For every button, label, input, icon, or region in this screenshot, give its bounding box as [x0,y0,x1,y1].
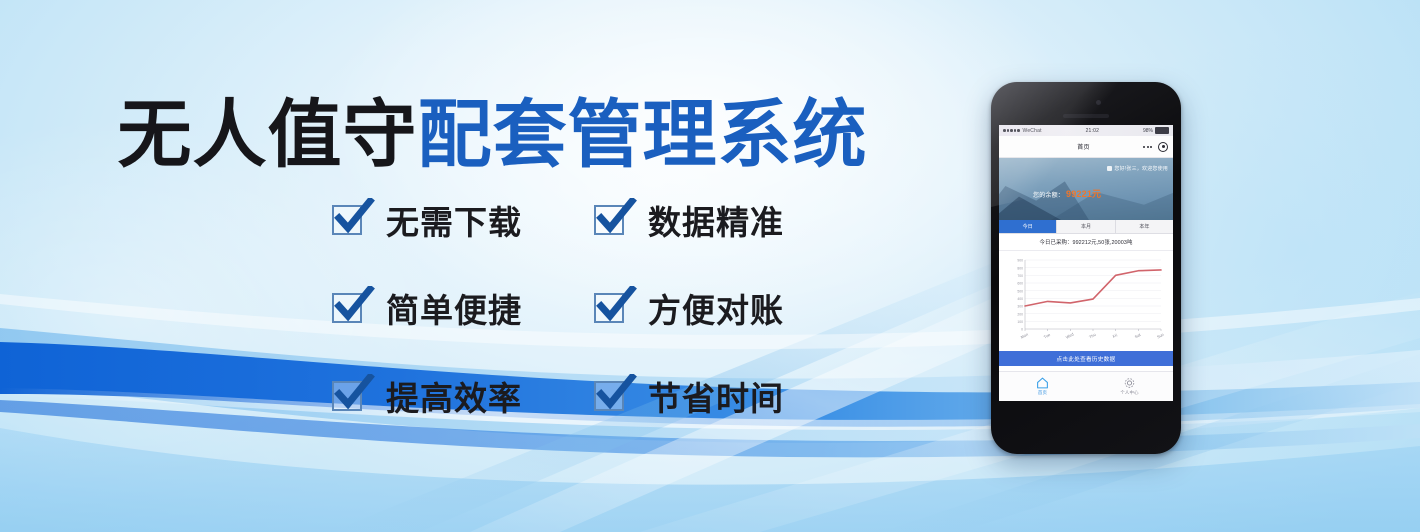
home-icon [1036,377,1049,389]
phone-mockup: WeChat 21:02 98% 首页 [991,82,1181,454]
feature-item: 方便对账 [594,284,852,332]
check-icon [332,290,372,326]
earpiece-speaker [1063,114,1109,118]
balance-label: 您的余额： [1033,190,1064,199]
greeting-text: 您好!张三，欢迎您使用 [1114,165,1168,172]
feature-label: 提高效率 [386,372,522,420]
period-tabs: 今日 本月 本年 [999,220,1173,234]
balance-row: 您的余额： 99221元 [1033,187,1101,200]
svg-text:400: 400 [1017,297,1023,301]
feature-item: 数据精准 [594,196,852,244]
gear-icon [1123,377,1136,389]
feature-label: 节省时间 [648,372,784,420]
svg-text:100: 100 [1017,320,1023,324]
svg-text:700: 700 [1017,274,1023,278]
feature-label: 方便对账 [648,284,784,332]
bottom-tab-bar: 首页 个人中心 [999,371,1173,401]
title-blue-part: 配套管理系统 [418,93,868,176]
svg-text:800: 800 [1017,266,1023,270]
camera-icon [1096,100,1101,105]
status-time: 21:02 [1042,128,1143,134]
page-title: 无人值守配套管理系统 [0,96,985,174]
feature-label: 数据精准 [648,196,784,244]
svg-text:900: 900 [1017,259,1023,263]
battery-percent: 98% [1143,128,1153,134]
feature-label: 无需下载 [386,196,522,244]
svg-text:Fri: Fri [1112,332,1119,339]
check-icon [594,290,634,326]
svg-text:200: 200 [1017,312,1023,316]
check-icon [332,378,372,414]
carrier-label: WeChat [1023,128,1042,134]
tab-month[interactable]: 本月 [1057,220,1115,233]
wechat-capsule[interactable] [1143,142,1168,152]
balance-amount: 99221元 [1066,187,1101,200]
feature-item: 无需下载 [332,196,594,244]
tab-home[interactable]: 首页 [999,372,1086,401]
svg-text:600: 600 [1017,282,1023,286]
check-icon [594,202,634,238]
promotional-banner: 无人值守配套管理系统 无需下载 数据精准 简单便捷 [0,0,1420,532]
nav-bar: 首页 [999,136,1173,158]
svg-text:500: 500 [1017,289,1023,293]
check-icon [594,378,634,414]
summary-text: 今日已采购：992212元,50张,20003吨 [999,234,1173,251]
line-chart: 0100200300400500600700800900MonTueWedThu… [1003,255,1167,347]
svg-text:300: 300 [1017,305,1023,309]
svg-text:Thu: Thu [1088,332,1096,340]
svg-text:Tue: Tue [1043,332,1052,340]
feature-item: 简单便捷 [332,284,594,332]
greeting-row: 您好!张三，欢迎您使用 [1107,165,1168,172]
target-circle-icon[interactable] [1158,142,1168,152]
battery-icon: 98% [1143,127,1169,134]
feature-item: 节省时间 [594,372,852,420]
nav-title: 首页 [1004,142,1143,151]
feature-item: 提高效率 [332,372,594,420]
tab-year[interactable]: 本年 [1116,220,1173,233]
tab-home-label: 首页 [1038,390,1047,396]
feature-list: 无需下载 数据精准 简单便捷 方便对账 [332,176,852,440]
more-dots-icon[interactable] [1143,146,1152,148]
svg-text:0: 0 [1021,328,1023,332]
avatar [1107,166,1112,171]
chart-area: 0100200300400500600700800900MonTueWedThu… [999,251,1173,351]
signal-icon [1003,129,1020,132]
phone-screen: WeChat 21:02 98% 首页 [999,125,1173,401]
tab-profile[interactable]: 个人中心 [1086,372,1173,401]
check-icon [332,202,372,238]
hero-banner: 您好!张三，欢迎您使用 您的余额： 99221元 [999,158,1173,220]
title-dark-part: 无人值守 [118,93,418,176]
history-cta-button[interactable]: 点击此处查看历史数据 [999,351,1173,366]
tab-profile-label: 个人中心 [1120,390,1138,396]
status-bar: WeChat 21:02 98% [999,125,1173,136]
svg-text:Wed: Wed [1065,332,1075,340]
feature-label: 简单便捷 [386,284,522,332]
svg-text:Mon: Mon [1020,332,1029,340]
svg-text:Sun: Sun [1156,332,1165,340]
tab-today[interactable]: 今日 [999,220,1057,233]
svg-text:Sat: Sat [1134,332,1142,340]
